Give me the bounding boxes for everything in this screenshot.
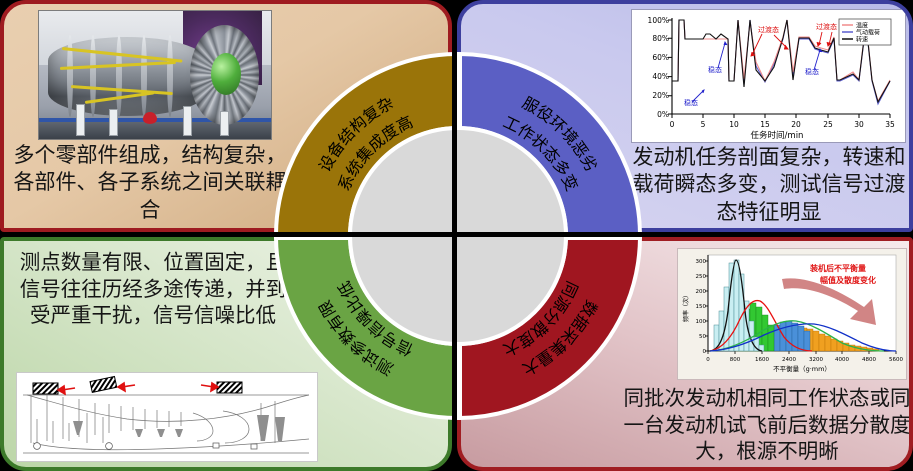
svg-text:20: 20	[791, 120, 801, 129]
svg-text:150: 150	[696, 304, 707, 310]
horizontal-divider	[0, 232, 913, 237]
svg-text:300: 300	[696, 259, 707, 265]
svg-text:4000: 4000	[835, 357, 849, 363]
svg-text:1600: 1600	[755, 357, 769, 363]
svg-text:稳态: 稳态	[805, 67, 819, 76]
svg-text:250: 250	[696, 274, 707, 280]
svg-text:幅值及散度变化: 幅值及散度变化	[820, 275, 876, 285]
caption-data-dispersion: 同批次发动机相同工作状态或同一台发动机试飞前后数据分散度大，根源不明晰	[621, 385, 913, 465]
svg-text:800: 800	[730, 357, 741, 363]
svg-text:任务时间/min: 任务时间/min	[751, 130, 804, 140]
svg-text:100: 100	[696, 319, 707, 325]
svg-text:4800: 4800	[862, 357, 876, 363]
svg-text:0: 0	[703, 349, 707, 355]
caption-service-environment: 发动机任务剖面复杂，转速和载荷瞬态多变，测试信号过渡态特征明显	[626, 144, 912, 226]
svg-text:稳态: 稳态	[684, 98, 698, 107]
svg-text:稳态: 稳态	[708, 65, 722, 74]
svg-text:5600: 5600	[889, 357, 903, 363]
svg-text:25: 25	[823, 120, 833, 129]
svg-text:温度: 温度	[856, 22, 868, 30]
svg-text:200: 200	[696, 289, 707, 295]
svg-text:过渡态: 过渡态	[758, 25, 779, 34]
svg-text:过渡态: 过渡态	[816, 22, 837, 31]
svg-text:装机后不平衡量: 装机后不平衡量	[809, 263, 866, 273]
svg-text:0%: 0%	[657, 110, 669, 119]
svg-text:不平衡量（g·mm）: 不平衡量（g·mm）	[773, 364, 831, 373]
svg-text:30: 30	[854, 120, 864, 129]
svg-text:5: 5	[701, 120, 706, 129]
svg-text:10: 10	[729, 120, 739, 129]
svg-text:频率（次）: 频率（次）	[682, 292, 690, 322]
svg-text:50: 50	[699, 334, 706, 340]
svg-text:100%: 100%	[648, 16, 669, 25]
imbalance-histogram: 050 100150 200250 300 0800 160	[677, 248, 907, 380]
caption-limited-measurement: 测点数量有限、位置固定，且信号往往历经多途传递，并到受严重干扰，信号信噪比低	[10, 249, 296, 329]
svg-text:15: 15	[760, 120, 770, 129]
svg-text:0: 0	[670, 120, 675, 129]
mission-profile-chart: 0% 20% 40% 60% 80% 100%	[631, 9, 906, 143]
svg-text:3200: 3200	[809, 357, 823, 363]
svg-text:0: 0	[706, 357, 710, 363]
svg-text:2400: 2400	[782, 357, 796, 363]
svg-text:35: 35	[885, 120, 895, 129]
svg-text:转速: 转速	[856, 36, 868, 44]
svg-text:气动载荷: 气动载荷	[856, 29, 880, 37]
aero-engine-photo	[38, 10, 272, 140]
caption-equipment-complexity: 多个零部件组成，结构复杂，各部件、各子系统之间关联耦合	[12, 142, 288, 224]
infographic-root: 多个零部件组成，结构复杂，各部件、各子系统之间关联耦合 0% 20% 40% 6…	[0, 0, 913, 471]
